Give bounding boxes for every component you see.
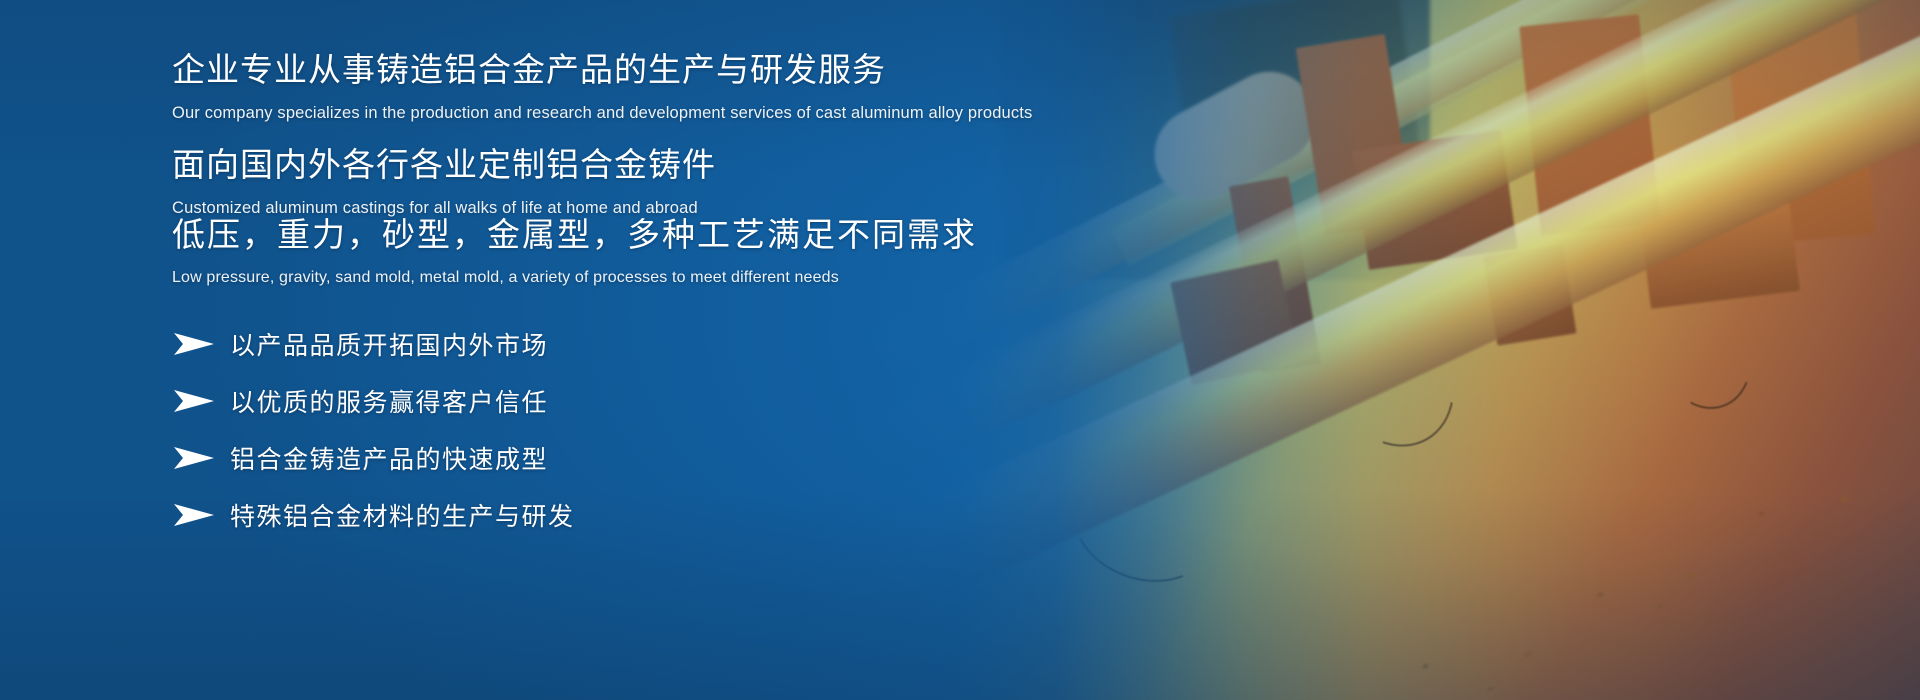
heading-1-english: Our company specializes in the productio… — [172, 104, 1032, 123]
heading-2-chinese: 面向国内外各行各业定制铝合金铸件 — [172, 145, 716, 185]
banner-content: 企业专业从事铸造铝合金产品的生产与研发服务 Our company specia… — [0, 0, 1200, 700]
list-item: 铝合金铸造产品的快速成型 — [172, 429, 575, 486]
feature-list: 以产品品质开拓国内外市场 以优质的服务赢得客户信任 铝合金铸造产品的快速成型 特… — [172, 315, 575, 543]
list-item-label: 以优质的服务赢得客户信任 — [230, 383, 548, 419]
hero-banner: 企业专业从事铸造铝合金产品的生产与研发服务 Our company specia… — [0, 0, 1920, 700]
list-item: 以优质的服务赢得客户信任 — [172, 372, 575, 429]
list-item: 特殊铝合金材料的生产与研发 — [172, 486, 575, 543]
arrow-right-icon — [172, 388, 216, 414]
heading-3-chinese: 低压，重力，砂型，金属型，多种工艺满足不同需求 — [172, 215, 977, 255]
list-item: 以产品品质开拓国内外市场 — [172, 315, 575, 372]
list-item-label: 特殊铝合金材料的生产与研发 — [230, 497, 575, 533]
heading-3-english: Low pressure, gravity, sand mold, metal … — [172, 269, 977, 287]
arrow-right-icon — [172, 331, 216, 357]
list-item-label: 铝合金铸造产品的快速成型 — [230, 440, 548, 476]
heading-block-3: 低压，重力，砂型，金属型，多种工艺满足不同需求 Low pressure, gr… — [172, 215, 977, 287]
heading-1-chinese: 企业专业从事铸造铝合金产品的生产与研发服务 — [172, 50, 1032, 90]
list-item-label: 以产品品质开拓国内外市场 — [230, 326, 548, 362]
arrow-right-icon — [172, 502, 216, 528]
arrow-right-icon — [172, 445, 216, 471]
heading-block-2: 面向国内外各行各业定制铝合金铸件 Customized aluminum cas… — [172, 145, 716, 218]
heading-block-1: 企业专业从事铸造铝合金产品的生产与研发服务 Our company specia… — [172, 50, 1032, 123]
